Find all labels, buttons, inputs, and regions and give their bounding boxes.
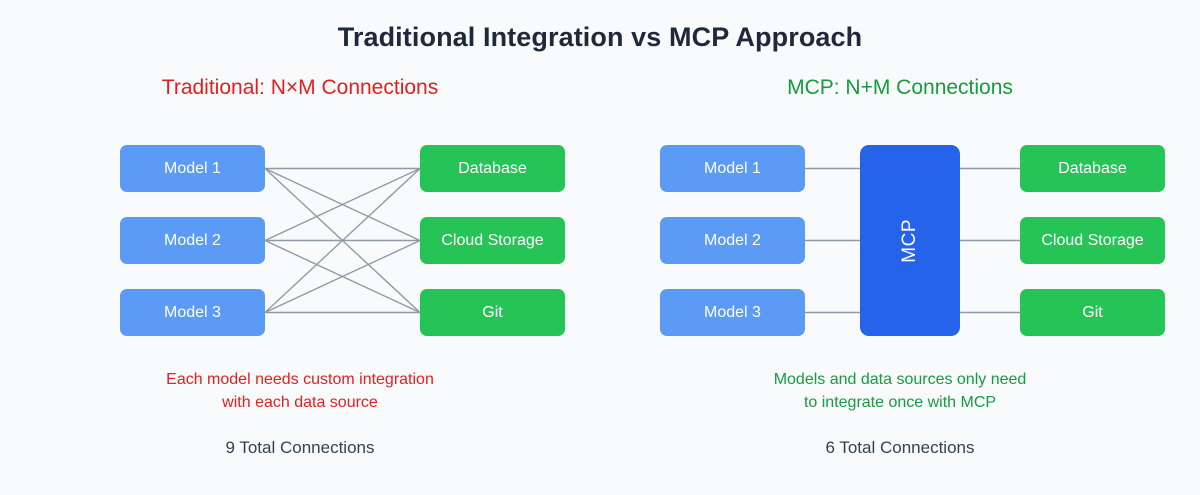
traditional-caption-line-1: Each model needs custom integration bbox=[20, 368, 580, 391]
node-label: Model 2 bbox=[704, 232, 761, 250]
node-label: Git bbox=[482, 304, 502, 322]
node-label: Database bbox=[458, 160, 527, 178]
mcp-model-1[interactable]: Model 1 bbox=[660, 145, 805, 192]
edge-model1-cloud bbox=[265, 169, 420, 241]
traditional-caption-line-2: with each data source bbox=[20, 391, 580, 414]
edge-model2-database bbox=[265, 169, 420, 241]
mcp-caption: Models and data sources only need to int… bbox=[620, 368, 1180, 414]
traditional-source-cloud-storage[interactable]: Cloud Storage bbox=[420, 217, 565, 264]
edge-model3-cloud bbox=[265, 241, 420, 313]
node-label: Model 3 bbox=[164, 304, 221, 322]
mcp-caption-line-1: Models and data sources only need bbox=[620, 368, 1180, 391]
mcp-model-3[interactable]: Model 3 bbox=[660, 289, 805, 336]
mcp-total-connections: 6 Total Connections bbox=[620, 438, 1180, 458]
mcp-hub[interactable]: MCP bbox=[860, 145, 960, 336]
node-label: Model 3 bbox=[704, 304, 761, 322]
node-label: Cloud Storage bbox=[441, 232, 543, 250]
traditional-panel-subtitle: Traditional: N×M Connections bbox=[20, 76, 580, 100]
traditional-model-1[interactable]: Model 1 bbox=[120, 145, 265, 192]
edge-model3-database bbox=[265, 169, 420, 313]
node-label: Model 2 bbox=[164, 232, 221, 250]
node-label: Database bbox=[1058, 160, 1127, 178]
node-label: Model 1 bbox=[164, 160, 221, 178]
traditional-total-connections: 9 Total Connections bbox=[20, 438, 580, 458]
mcp-panel-subtitle: MCP: N+M Connections bbox=[620, 76, 1180, 100]
page-title: Traditional Integration vs MCP Approach bbox=[0, 22, 1200, 53]
edge-model2-git bbox=[265, 241, 420, 313]
mcp-source-cloud-storage[interactable]: Cloud Storage bbox=[1020, 217, 1165, 264]
node-label: Model 1 bbox=[704, 160, 761, 178]
node-label: Git bbox=[1082, 304, 1102, 322]
edge-model1-git bbox=[265, 169, 420, 313]
mcp-hub-label: MCP bbox=[899, 219, 921, 263]
diagram-canvas: Traditional Integration vs MCP Approach … bbox=[0, 0, 1200, 495]
mcp-source-git[interactable]: Git bbox=[1020, 289, 1165, 336]
mcp-model-2[interactable]: Model 2 bbox=[660, 217, 805, 264]
mcp-caption-line-2: to integrate once with MCP bbox=[620, 391, 1180, 414]
traditional-model-3[interactable]: Model 3 bbox=[120, 289, 265, 336]
mcp-source-database[interactable]: Database bbox=[1020, 145, 1165, 192]
traditional-model-2[interactable]: Model 2 bbox=[120, 217, 265, 264]
traditional-caption: Each model needs custom integration with… bbox=[20, 368, 580, 414]
traditional-source-database[interactable]: Database bbox=[420, 145, 565, 192]
node-label: Cloud Storage bbox=[1041, 232, 1143, 250]
traditional-source-git[interactable]: Git bbox=[420, 289, 565, 336]
